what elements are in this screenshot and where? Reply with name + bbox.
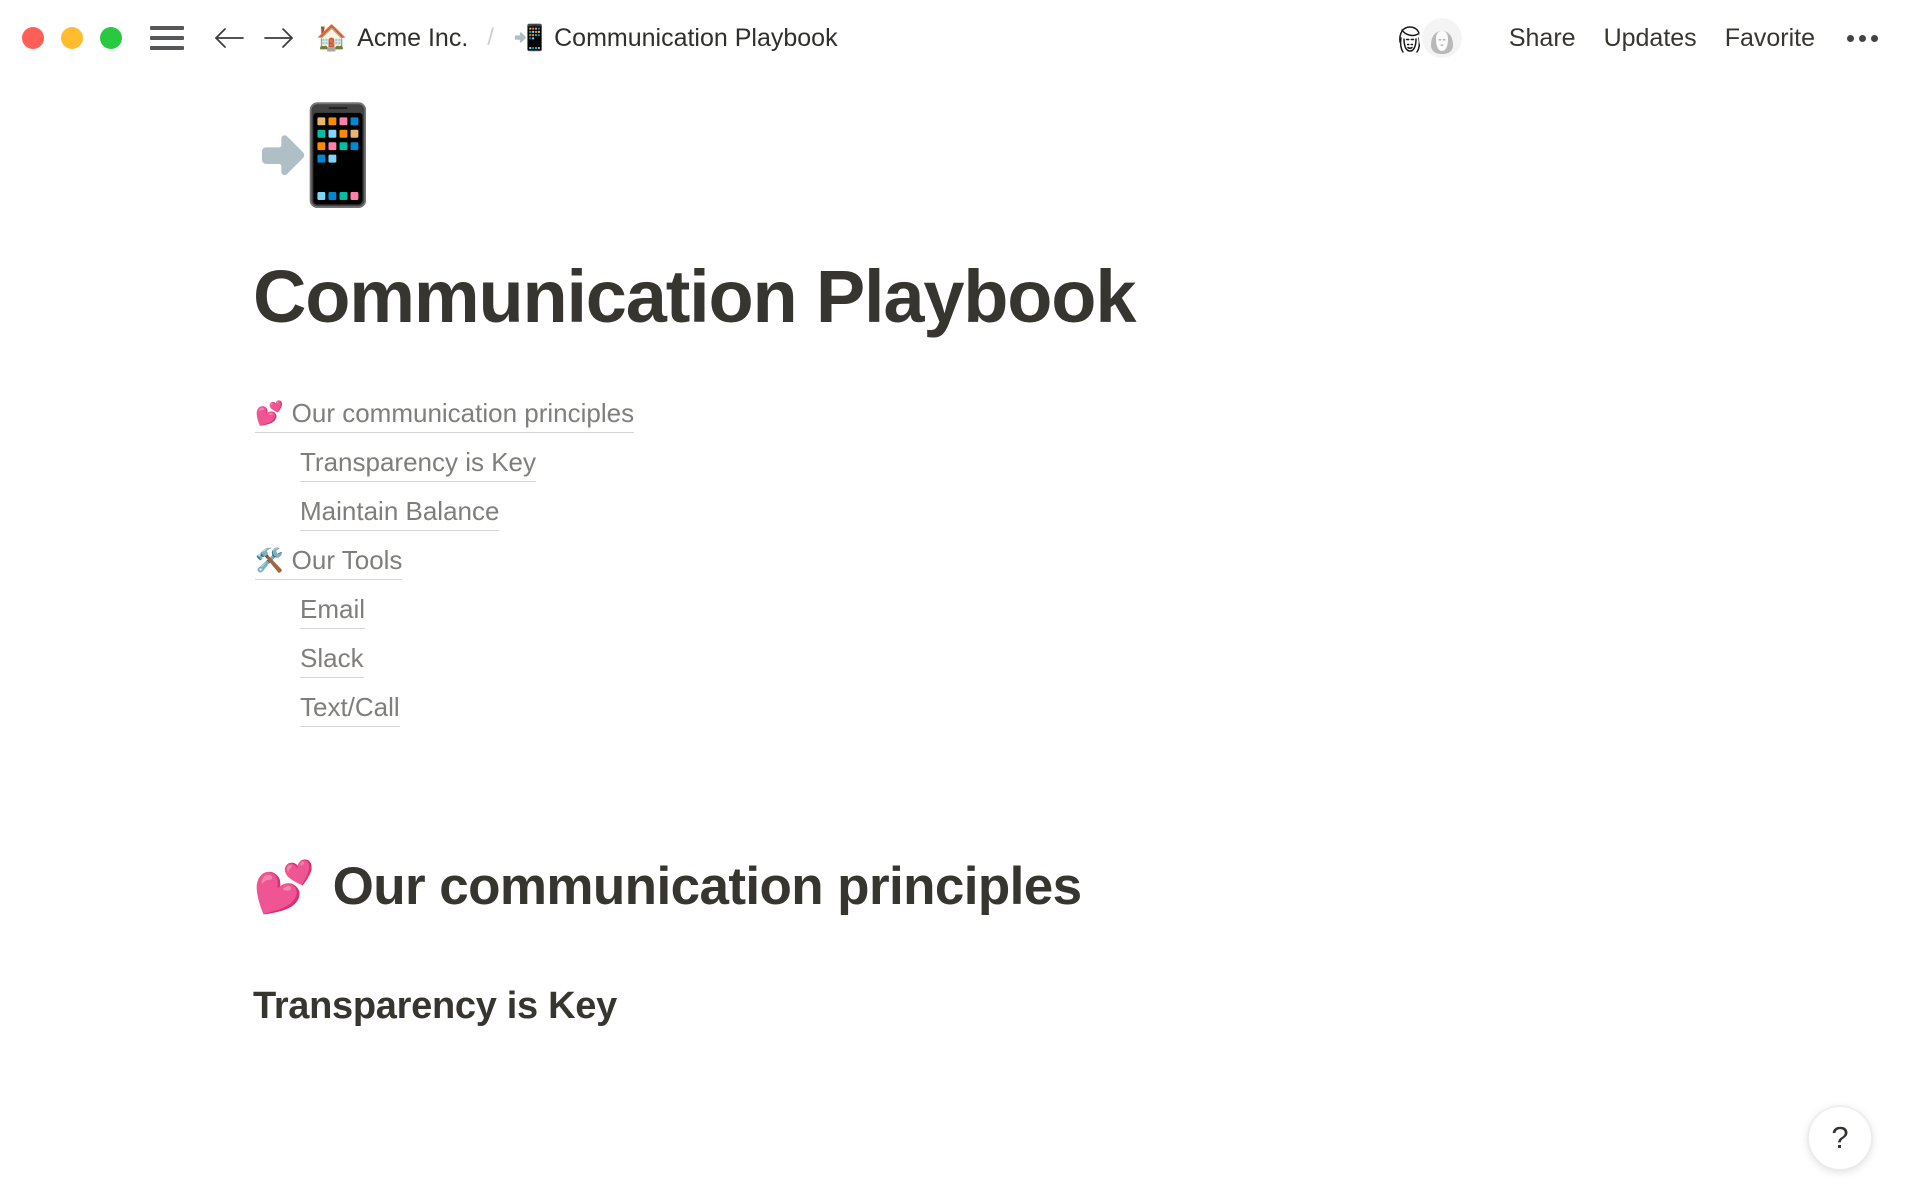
toc-item-transparency-is-key[interactable]: Transparency is Key xyxy=(300,440,536,489)
toc-item-our-communication-principles[interactable]: 💕 Our communication principles xyxy=(255,391,634,440)
toc-item-our-tools[interactable]: 🛠️ Our Tools xyxy=(255,538,402,587)
breadcrumb: 🏠 Acme Inc. / 📲 Communication Playbook xyxy=(312,21,842,56)
section-heading-transparency-is-key[interactable]: Transparency is Key xyxy=(253,985,1920,1028)
navigation-arrows xyxy=(210,19,298,57)
breadcrumb-workspace-label: Acme Inc. xyxy=(357,24,468,53)
breadcrumb-page-label: Communication Playbook xyxy=(554,24,837,53)
hamburger-line xyxy=(150,46,184,50)
hammer-and-wrench-icon: 🛠️ xyxy=(255,549,284,572)
page-icon[interactable]: 📲 xyxy=(255,108,1920,228)
maximize-window-button[interactable] xyxy=(100,27,122,49)
toc-item-slack[interactable]: Slack xyxy=(300,636,364,685)
house-icon: 🏠 xyxy=(316,26,347,51)
toc-item-label: Transparency is Key xyxy=(300,447,536,478)
toc-item-text-call[interactable]: Text/Call xyxy=(300,685,400,734)
breadcrumb-separator: / xyxy=(487,24,494,52)
toc-item-label: Maintain Balance xyxy=(300,496,499,527)
hamburger-line xyxy=(150,26,184,30)
toc-item-label: Slack xyxy=(300,643,364,674)
two-hearts-icon: 💕 xyxy=(255,402,284,425)
two-hearts-icon: 💕 xyxy=(253,862,315,912)
window-controls xyxy=(22,27,122,49)
hamburger-line xyxy=(150,36,184,40)
collaborator-avatars[interactable] xyxy=(1387,15,1465,61)
minimize-window-button[interactable] xyxy=(61,27,83,49)
section-heading-label: Our communication principles xyxy=(333,856,1082,917)
page-content: 📲 Communication Playbook 💕 Our communica… xyxy=(0,76,1920,1028)
more-dot xyxy=(1847,35,1854,42)
close-window-button[interactable] xyxy=(22,27,44,49)
toc-item-label: Email xyxy=(300,594,365,625)
avatar[interactable] xyxy=(1419,15,1465,61)
toc-item-label: Our Tools xyxy=(292,545,403,576)
hamburger-menu-icon[interactable] xyxy=(150,26,184,50)
page-title[interactable]: Communication Playbook xyxy=(253,256,1920,337)
top-bar-actions: Share Updates Favorite xyxy=(1387,15,1890,61)
toc-item-label: Our communication principles xyxy=(292,398,634,429)
toc-item-label: Text/Call xyxy=(300,692,400,723)
top-bar: 🏠 Acme Inc. / 📲 Communication Playbook xyxy=(0,0,1920,76)
updates-button[interactable]: Updates xyxy=(1590,17,1711,60)
toc-item-email[interactable]: Email xyxy=(300,587,365,636)
mobile-phone-with-arrow-icon: 📲 xyxy=(513,26,544,51)
breadcrumb-page[interactable]: 📲 Communication Playbook xyxy=(509,21,842,56)
help-button[interactable]: ? xyxy=(1808,1106,1872,1170)
breadcrumb-workspace[interactable]: 🏠 Acme Inc. xyxy=(312,21,472,56)
share-button[interactable]: Share xyxy=(1495,17,1590,60)
favorite-button[interactable]: Favorite xyxy=(1711,17,1829,60)
toc-item-maintain-balance[interactable]: Maintain Balance xyxy=(300,489,499,538)
section-heading-our-communication-principles[interactable]: 💕 Our communication principles xyxy=(253,856,1920,917)
more-options-icon[interactable] xyxy=(1835,25,1890,52)
more-dot xyxy=(1859,35,1866,42)
arrow-right-icon[interactable] xyxy=(260,19,298,57)
app-window: 🏠 Acme Inc. / 📲 Communication Playbook xyxy=(0,0,1920,1200)
more-dot xyxy=(1871,35,1878,42)
table-of-contents: 💕 Our communication principles Transpare… xyxy=(0,391,1920,734)
arrow-left-icon[interactable] xyxy=(210,19,248,57)
